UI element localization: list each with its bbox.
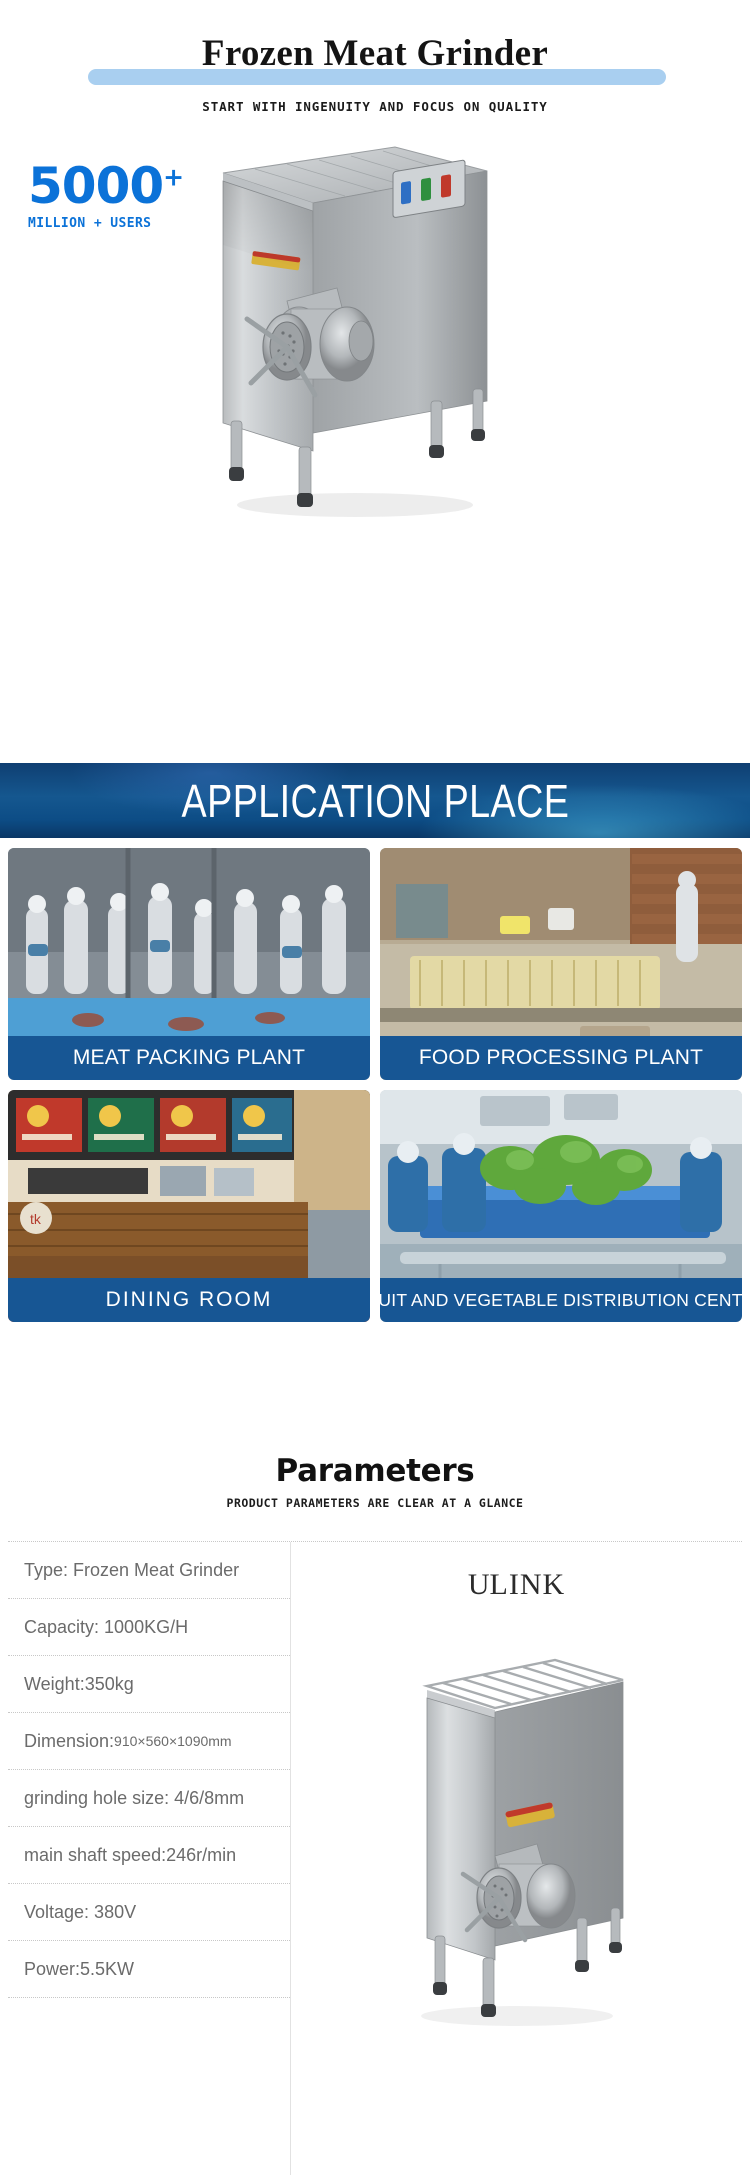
badge-number: 5000+ [28, 158, 183, 214]
badge-plus-symbol: + [163, 162, 183, 191]
specs-list: Type: Frozen Meat Grinder Capacity: 1000… [8, 1542, 291, 2175]
spec-text: Dimension: [24, 1731, 114, 1752]
spec-row: Type: Frozen Meat Grinder [8, 1542, 290, 1599]
spec-row: Weight:350kg [8, 1656, 290, 1713]
application-tile[interactable]: FRUIT AND VEGETABLE DISTRIBUTION CENTRE [380, 1090, 742, 1322]
product-photo-secondary [387, 1620, 647, 2040]
application-place-banner: APPLICATION PLACE [0, 763, 750, 838]
application-tiles: MEAT PACKING PLANT [0, 848, 750, 1332]
spec-row: Dimension: 910×560×1090mm [8, 1713, 290, 1770]
brand-logo-l: L [490, 1568, 509, 1601]
tile-label: FOOD PROCESSING PLANT [380, 1036, 742, 1080]
spec-value: 910×560×1090mm [114, 1733, 232, 1749]
parameters-header: Parameters PRODUCT PARAMETERS ARE CLEAR … [0, 1453, 750, 1510]
svg-text:tk: tk [30, 1211, 42, 1227]
users-badge: 5000+ MILLION + USERS [28, 158, 218, 231]
page-title: Frozen Meat Grinder [0, 28, 750, 80]
spec-text: Capacity: 1000KG/H [24, 1617, 188, 1638]
parameters-subtitle: PRODUCT PARAMETERS ARE CLEAR AT A GLANCE [0, 1496, 750, 1510]
grinder-illustration [195, 133, 515, 533]
spec-row: Voltage: 380V [8, 1884, 290, 1941]
badge-caption: MILLION + USERS [28, 216, 218, 231]
product-photo-main [195, 133, 515, 533]
spec-text: grinding hole size: 4/6/8mm [24, 1788, 244, 1809]
spec-row: grinding hole size: 4/6/8mm [8, 1770, 290, 1827]
spec-text: Type: Frozen Meat Grinder [24, 1560, 239, 1581]
spec-text: Voltage: 380V [24, 1902, 136, 1923]
brand-logo-ink: INK [509, 1568, 565, 1601]
brand-logo-u: U [468, 1568, 490, 1601]
tile-row-bottom: tk DINING ROOM [0, 1090, 750, 1322]
tile-row-top: MEAT PACKING PLANT [0, 848, 750, 1080]
application-place-title: APPLICATION PLACE [181, 774, 569, 828]
grinder-illustration-secondary [387, 1620, 647, 2040]
spec-row: main shaft speed:246r/min [8, 1827, 290, 1884]
hero-section: Frozen Meat Grinder START WITH INGENUITY… [0, 28, 750, 758]
tile-label: MEAT PACKING PLANT [8, 1036, 370, 1080]
tile-label: FRUIT AND VEGETABLE DISTRIBUTION CENTRE [380, 1278, 742, 1322]
hero-subtitle: START WITH INGENUITY AND FOCUS ON QUALIT… [0, 99, 750, 114]
specs-visual-panel: ULINK [291, 1542, 742, 2175]
tile-label: DINING ROOM [8, 1278, 370, 1322]
spec-row: Capacity: 1000KG/H [8, 1599, 290, 1656]
spec-row: Power:5.5KW [8, 1941, 290, 1998]
application-tile[interactable]: FOOD PROCESSING PLANT [380, 848, 742, 1080]
application-tile[interactable]: tk DINING ROOM [8, 1090, 370, 1322]
brand-logo: ULINK [291, 1568, 742, 1602]
specs-section: Type: Frozen Meat Grinder Capacity: 1000… [8, 1541, 742, 2175]
spec-text: Weight:350kg [24, 1674, 134, 1695]
spec-text: Power:5.5KW [24, 1959, 134, 1980]
hero-title-block: Frozen Meat Grinder [0, 28, 750, 94]
parameters-title: Parameters [0, 1453, 750, 1489]
badge-number-value: 5000 [28, 157, 163, 215]
application-tile[interactable]: MEAT PACKING PLANT [8, 848, 370, 1080]
spec-text: main shaft speed:246r/min [24, 1845, 236, 1866]
